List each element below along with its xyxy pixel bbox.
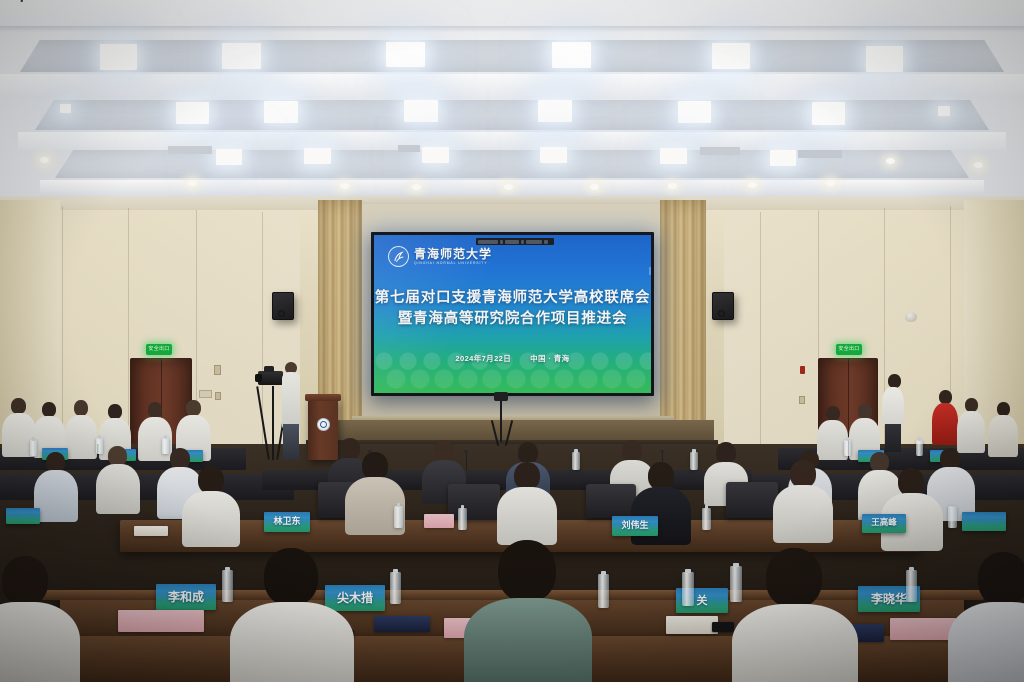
- ceiling-downlight: [40, 157, 49, 163]
- ceiling-rib-1: [0, 74, 1024, 98]
- ceiling-rib-2: [18, 132, 1006, 150]
- notebook[interactable]: [134, 526, 168, 536]
- wall-panel-seam: [760, 212, 761, 452]
- attendee-head: [108, 446, 127, 466]
- exit-sign-right: 安全出口: [836, 344, 862, 355]
- podium-top: [305, 394, 341, 401]
- attendee-head: [434, 440, 454, 462]
- wall-panel-seam: [128, 208, 129, 458]
- attendee-head: [997, 402, 1010, 416]
- water-bottle: [222, 570, 233, 602]
- screen-date: 2024年7月22日: [455, 354, 511, 363]
- toolbar-segment: [544, 240, 548, 244]
- attendee-torso: [988, 415, 1018, 457]
- ceiling-panel-light: [264, 101, 298, 123]
- exit-sign-left: 安全出口: [146, 344, 172, 355]
- conference-folder[interactable]: [374, 616, 430, 632]
- stage-curtain-right: [660, 200, 706, 440]
- microphone-head: [660, 450, 664, 453]
- ceiling-panel-light: [222, 43, 261, 69]
- ceiling-downlight: [340, 183, 349, 189]
- toolbar-record-indicator: [526, 240, 542, 244]
- fire-alarm-icon: [800, 366, 805, 374]
- ceiling-panel-light: [60, 104, 71, 113]
- water-bottle: [682, 572, 694, 606]
- attendee-head: [264, 548, 318, 606]
- ceiling-panel-light: [660, 148, 687, 164]
- ceiling: [0, 0, 1024, 205]
- attendee-head: [514, 462, 540, 490]
- attendee-head: [498, 540, 556, 602]
- water-bottle: [96, 438, 103, 454]
- toolbar-segment: [478, 240, 498, 244]
- water-bottle: [390, 572, 401, 604]
- water-bottle: [162, 438, 169, 454]
- camera-operator-legs: [283, 424, 299, 460]
- wall-junction-box: [215, 392, 221, 400]
- ceiling-panel-light: [100, 44, 137, 70]
- attendee-head: [888, 374, 901, 388]
- nameplate-second-far-right-label: 王高峰: [871, 519, 897, 528]
- water-bottle: [458, 508, 467, 530]
- attendee-head: [826, 406, 840, 421]
- attendee-head: [74, 400, 88, 416]
- water-bottle: [730, 566, 742, 602]
- attendee-head: [858, 404, 872, 419]
- ceiling-downlight: [188, 180, 197, 186]
- ceiling-panel-light: [938, 106, 950, 116]
- tripod-icon: [272, 386, 274, 460]
- water-bottle: [394, 506, 403, 528]
- exit-sign-left-label: 安全出口: [148, 347, 169, 352]
- attendee-head: [198, 466, 224, 494]
- wall-switch-plate[interactable]: [199, 390, 212, 398]
- ceiling-air-diffuser: [398, 145, 420, 152]
- attendee-torso: [34, 470, 78, 522]
- conference-hall-photo: 安全出口 安全出口: [0, 0, 1024, 682]
- led-screen-bezel: 青海师范大学 QINGHAI NORMAL UNIVERSITY 第七届对口支援…: [371, 232, 654, 396]
- water-bottle: [702, 508, 711, 530]
- attendee-head: [940, 448, 960, 469]
- tripod-head: [494, 392, 508, 401]
- ceiling-air-diffuser: [168, 146, 212, 154]
- attendee-torso: [773, 485, 833, 543]
- ceiling-downlight: [886, 158, 895, 164]
- media-control-toolbar[interactable]: [476, 238, 554, 245]
- ceiling-downlight: [590, 184, 599, 190]
- ceiling-panel-light: [678, 101, 711, 123]
- attendee-head: [362, 452, 388, 480]
- ceiling-panel-light: [712, 43, 750, 69]
- microphone-icon: [466, 452, 467, 470]
- toolbar-segment: [500, 240, 503, 244]
- attendee-head: [622, 440, 642, 462]
- screen-location: 中国 · 青海: [530, 354, 569, 363]
- nameplate-second-left-label: 林卫东: [273, 518, 300, 527]
- attendee-torso: [732, 604, 858, 682]
- nameplate-second-left: 林卫东: [264, 512, 310, 532]
- smartphone[interactable]: [712, 622, 734, 632]
- attendee-head: [790, 460, 816, 488]
- water-bottle: [598, 574, 609, 608]
- attendee-head: [2, 556, 48, 606]
- attendee-torso: [882, 387, 904, 425]
- ceiling-panel-light: [812, 102, 845, 125]
- attendee-torso: [65, 415, 97, 459]
- ceiling-edge-shadow: [0, 26, 1024, 32]
- attendee-torso: [182, 491, 240, 547]
- water-bottle: [572, 452, 580, 470]
- chair[interactable]: [726, 482, 778, 518]
- attendee-torso: [0, 602, 80, 682]
- chair[interactable]: [586, 484, 636, 518]
- attendee-head: [108, 404, 122, 419]
- ceiling-downlight: [668, 183, 677, 189]
- exit-sign-right-label: 安全出口: [838, 347, 859, 352]
- water-bottle: [906, 570, 917, 602]
- attendee-head: [648, 462, 674, 490]
- ceiling-downlight: [974, 162, 983, 168]
- toolbar-segment: [521, 240, 524, 244]
- attendee-head: [965, 398, 978, 412]
- camera-lens-icon: [255, 374, 262, 382]
- attendee-head: [46, 452, 65, 472]
- attendee-head: [898, 468, 924, 496]
- screen-title-line-2: 暨青海高等研究院合作项目推进会: [374, 308, 651, 329]
- attendee-head: [11, 398, 26, 414]
- wall-speaker-icon: [712, 292, 734, 320]
- led-screen[interactable]: 青海师范大学 QINGHAI NORMAL UNIVERSITY 第七届对口支援…: [374, 235, 651, 393]
- nameplate-second-right: 刘伟生: [612, 516, 658, 536]
- nameplate-second-left-edge: [6, 508, 40, 524]
- document-folder[interactable]: [890, 618, 956, 640]
- ceiling-downlight: [826, 180, 835, 186]
- screen-side-indicator: [649, 267, 651, 275]
- ceiling-panel-light: [404, 100, 438, 122]
- nameplate-front-1: 李和成: [156, 584, 216, 610]
- nameplate-second-far-right: 王高峰: [862, 514, 906, 533]
- ceiling-panel-light: [866, 46, 903, 72]
- ceiling-panel-light: [540, 147, 567, 163]
- wall-junction-box: [214, 365, 221, 375]
- attendee-head: [939, 390, 952, 404]
- nameplate-front-1-label: 李和成: [168, 591, 204, 603]
- ceiling-panel-light: [770, 150, 796, 166]
- university-emblem-icon: [317, 418, 330, 431]
- ceiling-panel-light: [422, 147, 449, 163]
- attendee-torso: [497, 487, 557, 545]
- document-folder[interactable]: [118, 610, 204, 632]
- nameplate-front-4-label: 李晓华: [871, 593, 907, 605]
- tripod-icon: [500, 398, 502, 442]
- ceiling-panel-light: [386, 42, 425, 67]
- nameplate-second-extra: [962, 512, 1006, 531]
- water-bottle: [844, 440, 851, 456]
- attendee-head: [186, 400, 201, 416]
- ceiling-air-diffuser: [798, 150, 842, 158]
- dome-camera-icon: [905, 312, 917, 322]
- ceiling-panel-light: [538, 100, 572, 122]
- attendee-torso: [932, 403, 958, 445]
- attendee-torso: [96, 464, 140, 514]
- chair[interactable]: [448, 484, 500, 520]
- water-bottle: [690, 452, 698, 470]
- ceiling-downlight: [748, 182, 757, 188]
- attendee-head: [42, 402, 56, 417]
- nameplate-second-right-label: 刘伟生: [621, 522, 648, 531]
- attendee-head: [148, 402, 162, 418]
- nameplate-second-extra-label: [983, 517, 986, 526]
- ceiling-panel-light: [304, 148, 331, 164]
- podium[interactable]: [308, 398, 338, 460]
- camera-hood: [264, 366, 274, 372]
- attendee-legs: [885, 424, 901, 452]
- ceiling-downlight: [412, 184, 421, 190]
- attendee-torso: [957, 411, 985, 453]
- screen-title-line-1: 第七届对口支援青海师范大学高校联席会: [374, 287, 651, 308]
- attendee-torso: [948, 602, 1024, 682]
- university-seal-icon: [388, 246, 409, 267]
- university-name-en: QINGHAI NORMAL UNIVERSITY: [414, 262, 492, 265]
- nameplate-front-3-label: 关: [697, 595, 708, 606]
- water-bottle: [30, 440, 37, 456]
- ceiling-panel-light: [216, 149, 242, 165]
- toolbar-segment: [505, 240, 519, 244]
- screen-subtitle: 2024年7月22日 中国 · 青海: [374, 353, 651, 364]
- attendee-head: [518, 442, 538, 464]
- notebook[interactable]: [666, 616, 718, 634]
- attendee-torso: [230, 602, 354, 682]
- ceiling-downlight: [504, 184, 513, 190]
- wall-junction-box: [799, 396, 805, 404]
- ceiling-air-diffuser: [700, 147, 740, 155]
- ceiling-coffer-row-1: [20, 40, 1004, 72]
- nameplate-second-left-edge-label: [22, 513, 24, 520]
- microphone-head: [464, 450, 468, 453]
- wall-panel-seam: [62, 206, 63, 456]
- water-bottle: [916, 440, 923, 456]
- university-logo: 青海师范大学 QINGHAI NORMAL UNIVERSITY: [388, 246, 492, 267]
- university-name-cn: 青海师范大学: [414, 248, 492, 260]
- nameplate-front-2-label: 尖木措: [337, 592, 373, 604]
- screen-title: 第七届对口支援青海师范大学高校联席会 暨青海高等研究院合作项目推进会: [374, 287, 651, 329]
- attendee-head: [766, 548, 822, 608]
- document-folder[interactable]: [424, 514, 454, 528]
- attendee-head: [170, 448, 190, 469]
- ceiling-panel-light: [552, 42, 591, 68]
- ceiling-panel-light: [176, 102, 209, 124]
- attendee-torso: [464, 598, 592, 682]
- attendee-head: [978, 552, 1024, 606]
- attendee-head: [716, 442, 736, 464]
- nameplate-front-2: 尖木措: [325, 585, 385, 611]
- water-bottle: [948, 506, 957, 528]
- attendee-head: [870, 452, 889, 472]
- university-logo-text: 青海师范大学 QINGHAI NORMAL UNIVERSITY: [414, 248, 492, 265]
- wall-speaker-icon: [272, 292, 294, 320]
- camera-operator: [282, 372, 300, 428]
- attendee-head: [340, 438, 360, 460]
